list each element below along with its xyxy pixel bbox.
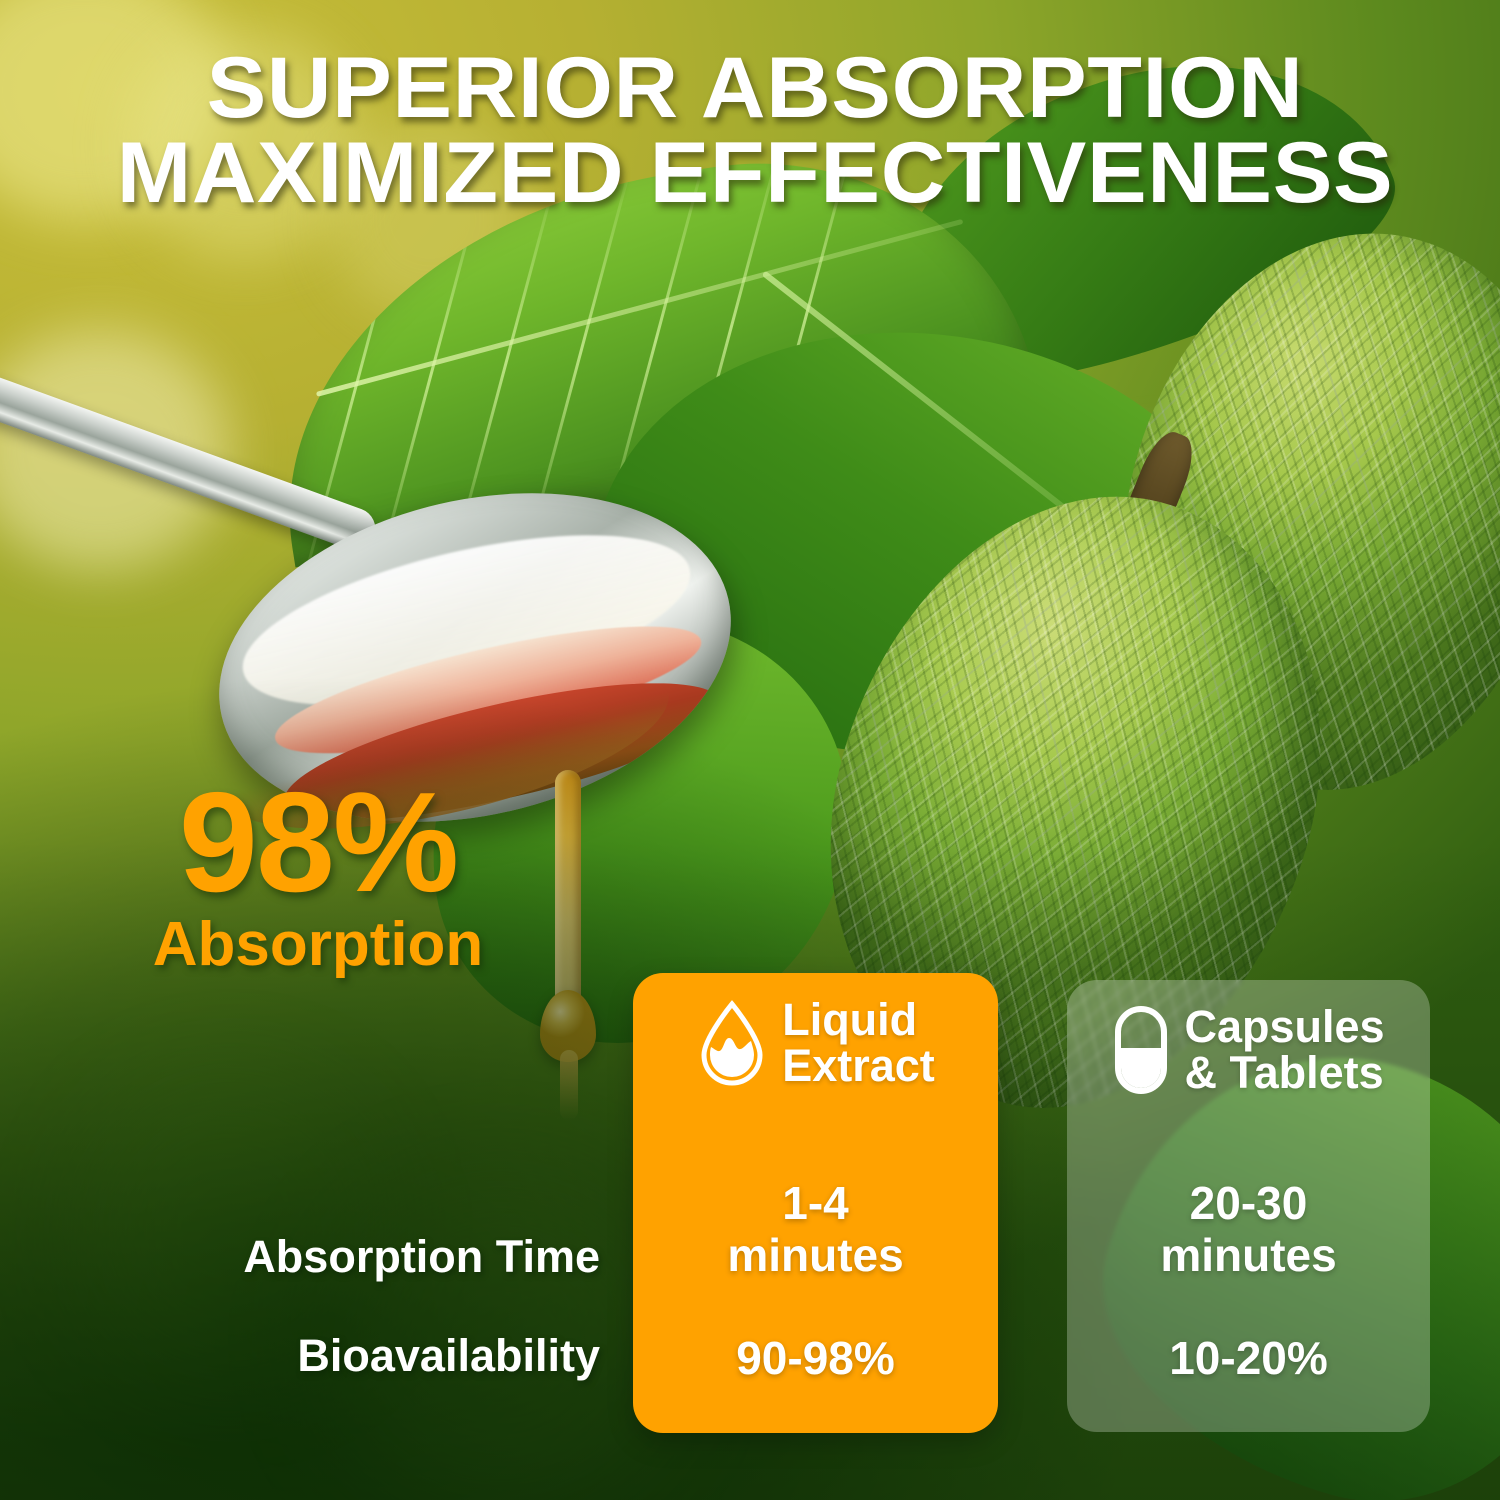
card-title: Liquid Extract (782, 997, 935, 1089)
absorption-stat: 98% Absorption (108, 778, 528, 976)
value-liquid-absorption-time: 1-4 minutes (633, 1178, 998, 1281)
value-liquid-bioavailability: 90-98% (633, 1333, 998, 1385)
infographic-canvas: SUPERIOR ABSORPTION MAXIMIZED EFFECTIVEN… (0, 0, 1500, 1500)
stat-value: 98% (108, 778, 528, 909)
card-title-line-1: Liquid (782, 997, 935, 1043)
row-label-bioavailability: Bioavailability (130, 1332, 600, 1379)
card-header: Liquid Extract (633, 997, 998, 1089)
stat-label: Absorption (108, 913, 528, 976)
card-title-line-2: Extract (782, 1043, 935, 1089)
page-title: SUPERIOR ABSORPTION MAXIMIZED EFFECTIVEN… (32, 46, 1478, 216)
card-header: Capsules & Tablets (1067, 1004, 1430, 1096)
value-capsules-bioavailability: 10-20% (1067, 1333, 1430, 1385)
card-title-line-1: Capsules (1184, 1004, 1384, 1050)
value-capsules-absorption-time: 20-30 minutes (1067, 1178, 1430, 1281)
headline-line-2: MAXIMIZED EFFECTIVENESS (32, 131, 1478, 216)
card-title-line-2: & Tablets (1184, 1050, 1384, 1096)
droplet-icon (696, 1000, 768, 1086)
capsule-icon (1112, 1004, 1170, 1096)
headline-line-1: SUPERIOR ABSORPTION (32, 46, 1478, 131)
card-title: Capsules & Tablets (1184, 1004, 1384, 1096)
row-label-absorption-time: Absorption Time (130, 1233, 600, 1280)
